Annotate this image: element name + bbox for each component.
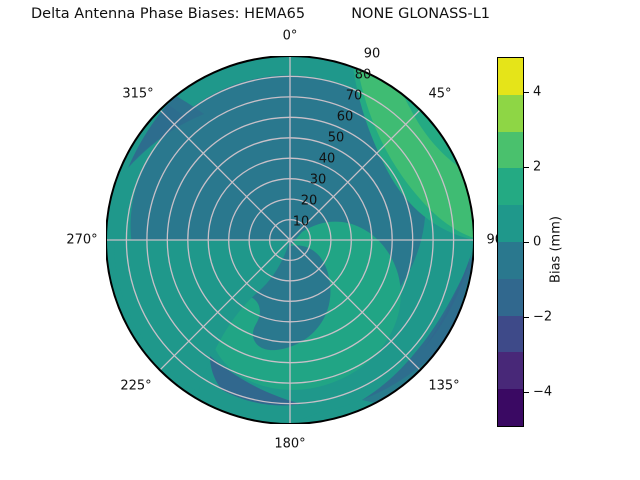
colorbar-ticklabel-neg4: −4 xyxy=(533,385,552,400)
theta-tick-315: 315° xyxy=(122,87,153,102)
colorbar-tick-0 xyxy=(524,242,529,243)
r-tick-90: 90 xyxy=(364,47,381,62)
r-tick-50: 50 xyxy=(328,131,345,146)
colorbar-tick-neg2 xyxy=(524,317,529,318)
r-tick-60: 60 xyxy=(337,110,354,125)
r-tick-40: 40 xyxy=(319,152,336,167)
polar-plot: 0° 45° 90° 135° 180° 225° 270° 315° 10 2… xyxy=(106,56,474,424)
colorbar-band-3 xyxy=(498,168,523,205)
theta-tick-0: 0° xyxy=(283,29,298,44)
colorbar-band-5 xyxy=(498,242,523,279)
polar-plot-svg xyxy=(106,56,474,424)
colorbar-axis-label: Bias (mm) xyxy=(549,216,564,283)
colorbar-tick-2 xyxy=(524,167,529,168)
colorbar-band-6 xyxy=(498,279,523,316)
r-tick-80: 80 xyxy=(355,68,372,83)
colorbar-ticklabel-0: 0 xyxy=(533,235,541,250)
r-tick-20: 20 xyxy=(301,194,318,209)
colorbar-band-4 xyxy=(498,205,523,242)
figure-title: Delta Antenna Phase Biases: HEMA65 NONE … xyxy=(0,6,640,22)
colorbar xyxy=(497,57,524,427)
r-tick-10: 10 xyxy=(293,215,310,230)
colorbar-band-2 xyxy=(498,132,523,169)
theta-tick-135: 135° xyxy=(428,379,459,394)
r-tick-70: 70 xyxy=(346,89,363,104)
colorbar-tick-neg4 xyxy=(524,392,529,393)
theta-tick-180: 180° xyxy=(274,437,305,452)
r-tick-30: 30 xyxy=(310,173,327,188)
theta-tick-45: 45° xyxy=(428,87,451,102)
colorbar-ticklabel-2: 2 xyxy=(533,160,541,175)
colorbar-ticklabel-neg2: −2 xyxy=(533,310,552,325)
colorbar-band-0 xyxy=(498,58,523,95)
colorbar-band-7 xyxy=(498,316,523,353)
colorbar-band-1 xyxy=(498,95,523,132)
colorbar-band-8 xyxy=(498,352,523,389)
colorbar-tick-4 xyxy=(524,92,529,93)
polar-angular-gridlines xyxy=(106,56,474,424)
theta-tick-225: 225° xyxy=(120,379,151,394)
figure-canvas: Delta Antenna Phase Biases: HEMA65 NONE … xyxy=(0,0,640,480)
colorbar-ticklabel-4: 4 xyxy=(533,85,541,100)
colorbar-band-9 xyxy=(498,389,523,426)
theta-tick-270: 270° xyxy=(66,233,97,248)
